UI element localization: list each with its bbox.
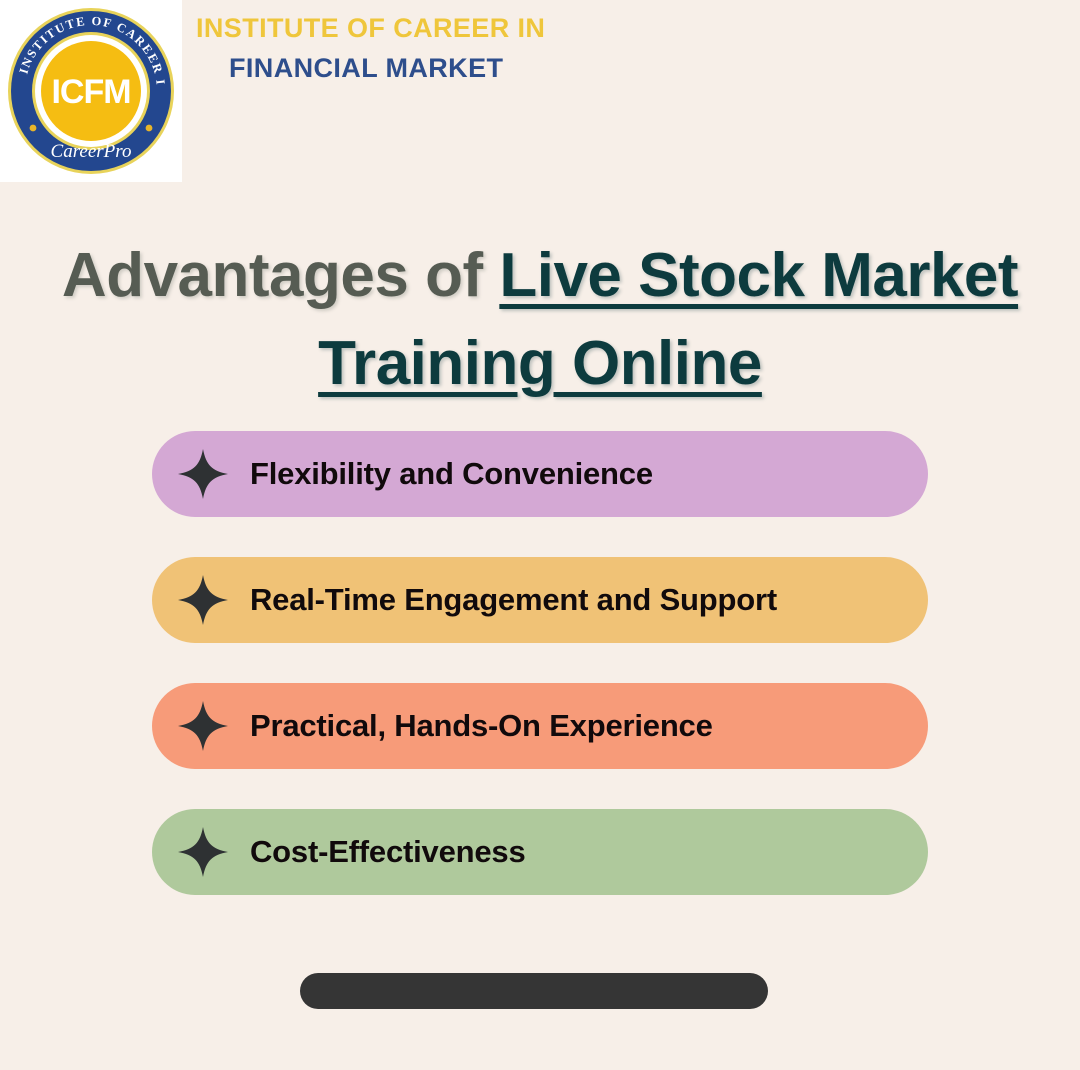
brand-line-financial-market: FINANCIAL MARKET [229, 48, 796, 88]
brand-name-block: INSTITUTE OF CAREER IN FINANCIAL MARKET [196, 8, 796, 88]
bottom-action-bar[interactable] [300, 973, 768, 1009]
list-item-label: Practical, Hands-On Experience [250, 708, 713, 744]
brand-line-institute: INSTITUTE OF CAREER IN [196, 8, 796, 48]
page-title: Advantages of Live Stock Market Training… [40, 232, 1040, 408]
sparkle-icon [176, 447, 230, 501]
page-header: INSTITUTE OF CAREER IN FINANCIAL MARKET … [0, 0, 1080, 182]
icfm-careerpro-badge-logo: INSTITUTE OF CAREER IN FINANCIAL MARKET … [6, 6, 176, 176]
sparkle-icon [176, 825, 230, 879]
sparkle-icon [176, 573, 230, 627]
list-item-label: Flexibility and Convenience [250, 456, 653, 492]
sparkle-icon [176, 699, 230, 753]
advantages-list: Flexibility and Convenience Real-Time En… [152, 431, 928, 895]
list-item[interactable]: Practical, Hands-On Experience [152, 683, 928, 769]
list-item[interactable]: Cost-Effectiveness [152, 809, 928, 895]
page-title-prefix: Advantages of [62, 241, 499, 310]
svg-text:ICFM: ICFM [51, 73, 130, 111]
list-item-label: Real-Time Engagement and Support [250, 582, 777, 618]
list-item[interactable]: Real-Time Engagement and Support [152, 557, 928, 643]
logo-container: INSTITUTE OF CAREER IN FINANCIAL MARKET … [0, 0, 182, 182]
list-item-label: Cost-Effectiveness [250, 834, 526, 870]
list-item[interactable]: Flexibility and Convenience [152, 431, 928, 517]
svg-text:CareerPro: CareerPro [51, 141, 132, 162]
